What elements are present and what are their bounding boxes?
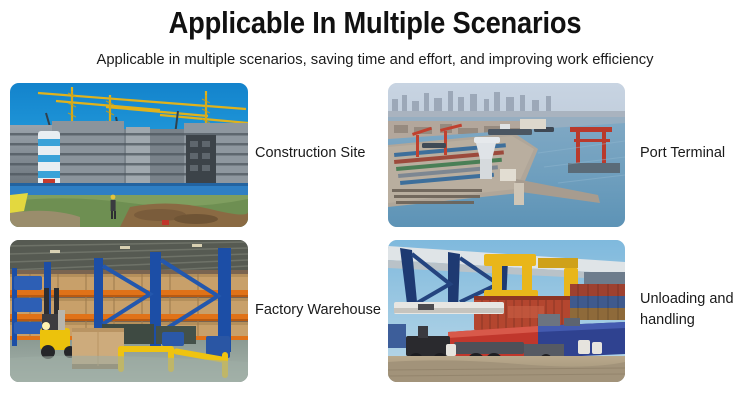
page-subtitle: Applicable in multiple scenarios, saving… bbox=[6, 50, 745, 70]
caption-unloading: Unloading and handling bbox=[640, 289, 745, 331]
caption-unloading-line2: handling bbox=[640, 312, 695, 328]
caption-unloading-line1: Unloading and bbox=[640, 291, 734, 307]
construction-site-photo[interactable] bbox=[10, 83, 248, 227]
factory-warehouse-photo[interactable] bbox=[10, 240, 248, 382]
caption-port: Port Terminal bbox=[640, 143, 750, 164]
scenarios-page: Applicable In Multiple Scenarios Applica… bbox=[0, 0, 750, 400]
unloading-handling-photo[interactable] bbox=[388, 240, 625, 382]
caption-warehouse: Factory Warehouse bbox=[255, 300, 390, 321]
page-title: Applicable In Multiple Scenarios bbox=[45, 6, 705, 40]
caption-construction: Construction Site bbox=[255, 143, 380, 164]
port-terminal-photo[interactable] bbox=[388, 83, 625, 227]
